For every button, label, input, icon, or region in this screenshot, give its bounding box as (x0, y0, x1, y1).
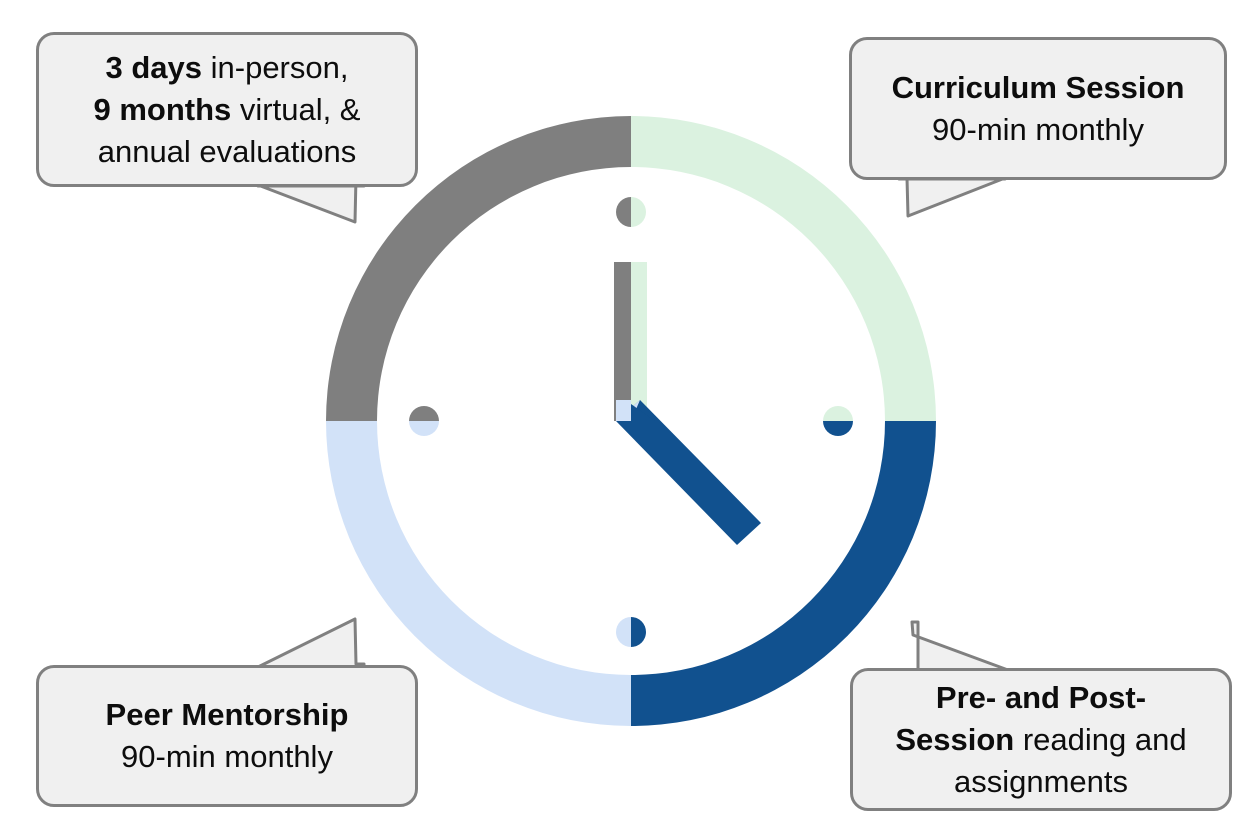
callout-line-rest: in-person, (202, 50, 348, 85)
callout-top-left[interactable]: 3 days in-person, 9 months virtual, & an… (36, 32, 418, 187)
callout-top-right[interactable]: Curriculum Session 90-min monthly (849, 37, 1227, 180)
callout-line-bold: 9 months (93, 92, 231, 127)
callout-line-rest: 90-min monthly (932, 112, 1144, 147)
callout-tail-bottom-left (258, 619, 364, 667)
callout-line: 90-min monthly (932, 109, 1144, 151)
callout-line: 90-min monthly (121, 736, 333, 778)
callout-line: 9 months virtual, & (93, 89, 360, 131)
callout-line-bold: Pre- and Post- (936, 680, 1146, 715)
callout-line-rest: annual evaluations (98, 134, 357, 169)
callout-line: annual evaluations (98, 131, 357, 173)
callout-tail-top-right (899, 178, 1005, 216)
diagram-canvas: 3 days in-person, 9 months virtual, & an… (0, 0, 1252, 830)
callout-line-rest: 90-min monthly (121, 739, 333, 774)
callout-line: assignments (954, 761, 1128, 803)
callout-tail-bottom-right (912, 622, 1008, 670)
callout-bottom-right[interactable]: Pre- and Post- Session reading and assig… (850, 668, 1232, 811)
callout-line: Pre- and Post- (936, 677, 1146, 719)
callout-line: 3 days in-person, (106, 47, 349, 89)
callout-line-rest: reading and (1014, 722, 1186, 757)
callout-line-bold: Curriculum Session (892, 70, 1185, 105)
callout-line: Curriculum Session (892, 67, 1185, 109)
callout-line: Session reading and (895, 719, 1186, 761)
callout-line-rest: virtual, & (231, 92, 360, 127)
callout-line-bold: 3 days (106, 50, 203, 85)
callout-line-bold: Session (895, 722, 1014, 757)
callout-line-rest: assignments (954, 764, 1128, 799)
callout-line: Peer Mentorship (106, 694, 349, 736)
callout-bottom-left[interactable]: Peer Mentorship 90-min monthly (36, 665, 418, 807)
callout-line-bold: Peer Mentorship (106, 697, 349, 732)
